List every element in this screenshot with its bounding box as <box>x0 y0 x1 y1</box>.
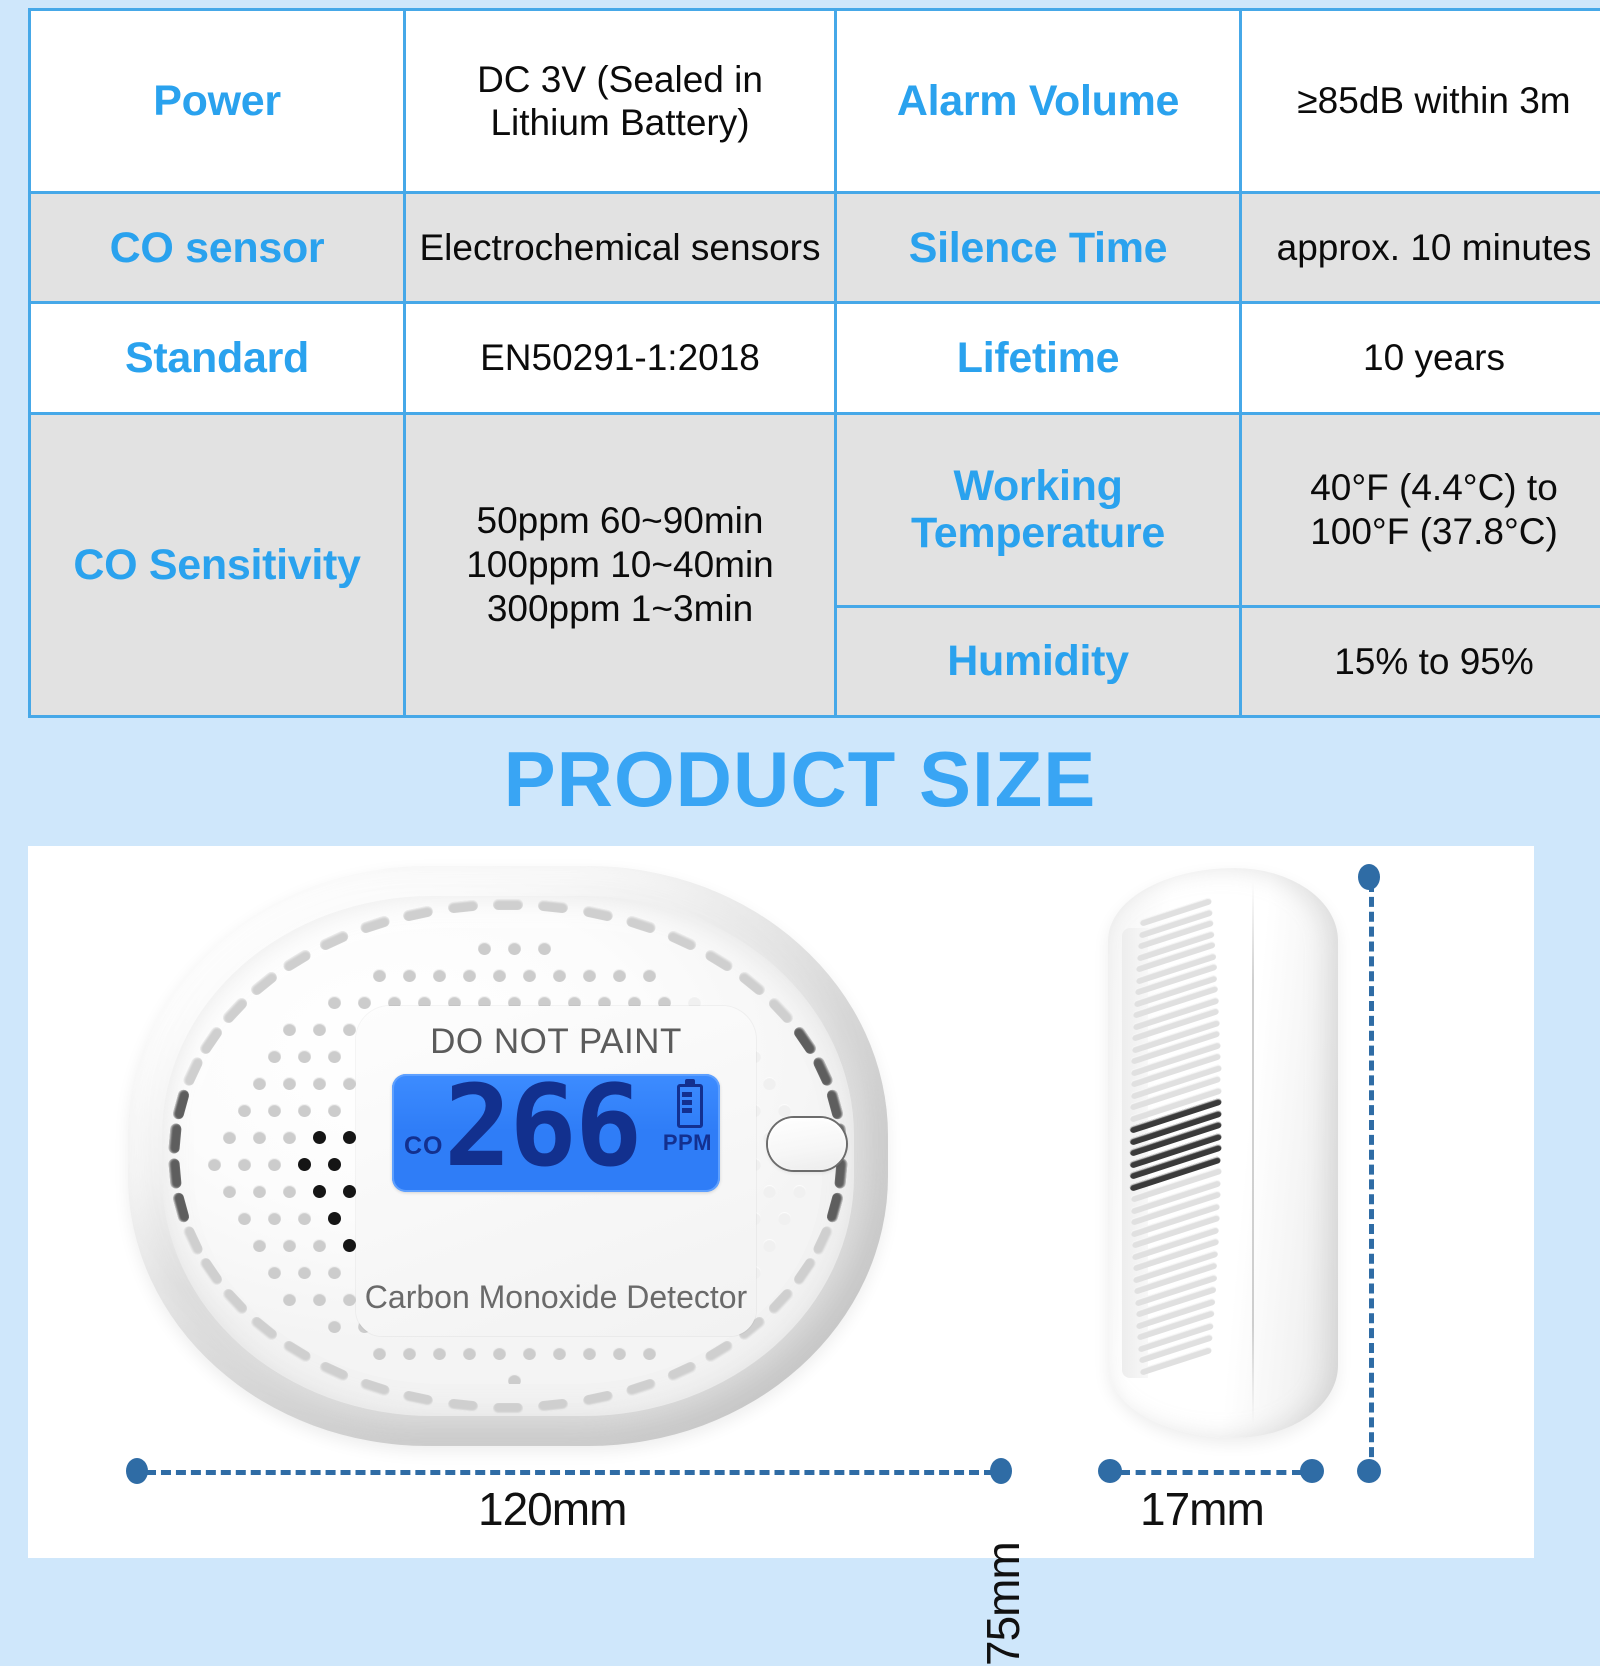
spec-value-working-temperature: 40°F (4.4°C) to 100°F (37.8°C) <box>1241 413 1600 606</box>
detector-front-view: DO NOT PAINT CO 266 PPM Carbon Monoxide … <box>128 866 888 1446</box>
grille-dot <box>793 1185 806 1198</box>
grille-dot <box>268 1212 281 1225</box>
vent-slit <box>172 1089 191 1121</box>
grille-dot <box>313 1131 326 1144</box>
spec-label-co-sensor: CO sensor <box>30 193 405 303</box>
detector-label-plate: DO NOT PAINT CO 266 PPM Carbon Monoxide … <box>356 1006 756 1336</box>
vent-slit <box>826 1089 845 1121</box>
grille-dot <box>493 1347 506 1360</box>
detector-seam-line <box>1252 882 1254 1424</box>
grille-dot <box>373 969 386 982</box>
test-button[interactable] <box>768 1118 846 1170</box>
spec-label-power: Power <box>30 10 405 193</box>
sensitivity-line-2: 100ppm 10~40min <box>416 543 824 587</box>
grille-dot <box>223 1185 236 1198</box>
grille-dot <box>583 1347 596 1360</box>
spec-label-standard: Standard <box>30 303 405 413</box>
grille-dot <box>343 1077 356 1090</box>
grille-dot <box>328 1320 341 1333</box>
battery-icon <box>677 1084 703 1128</box>
vent-slit <box>493 899 523 910</box>
grille-dot <box>268 1104 281 1117</box>
sensitivity-line-1: 50ppm 60~90min <box>416 499 824 543</box>
grille-dot <box>433 969 446 982</box>
dimension-endpoint-width-left <box>126 1458 148 1484</box>
grille-dot <box>643 1347 656 1360</box>
grille-dot <box>343 1131 356 1144</box>
sensitivity-line-3: 300ppm 1~3min <box>416 587 824 631</box>
product-size-panel: DO NOT PAINT CO 266 PPM Carbon Monoxide … <box>28 846 1534 1558</box>
spec-label-working-temperature: Working Temperature <box>836 413 1241 606</box>
grille-dot <box>283 1131 296 1144</box>
detector-side-view <box>1108 868 1338 1438</box>
vent-slit <box>172 1191 191 1223</box>
spec-value-humidity: 15% to 95% <box>1241 606 1600 716</box>
grille-dot <box>253 1239 266 1252</box>
working-temperature-line-1: 40°F (4.4°C) to <box>1252 466 1600 510</box>
grille-dot <box>298 1212 311 1225</box>
grille-dot <box>358 996 371 1009</box>
grille-dot <box>298 1104 311 1117</box>
grille-dot <box>553 1347 566 1360</box>
grille-dot <box>343 1293 356 1306</box>
grille-dot <box>493 969 506 982</box>
grille-dot <box>373 1347 386 1360</box>
grille-dot <box>583 969 596 982</box>
grille-dot <box>268 1266 281 1279</box>
grille-dot <box>613 969 626 982</box>
grille-dot <box>313 1185 326 1198</box>
grille-dot <box>313 1293 326 1306</box>
spec-label-humidity: Humidity <box>836 606 1241 716</box>
lcd-reading: 266 <box>444 1074 640 1186</box>
grille-dot <box>613 1347 626 1360</box>
grille-dot <box>763 1239 776 1252</box>
working-temperature-line-2: 100°F (37.8°C) <box>1252 510 1600 554</box>
grille-dot <box>763 1185 776 1198</box>
grille-dot <box>463 969 476 982</box>
grille-dot <box>268 1158 281 1171</box>
grille-dot <box>403 969 416 982</box>
grille-dot <box>403 1347 416 1360</box>
spec-label-lifetime: Lifetime <box>836 303 1241 413</box>
grille-dot <box>208 1158 221 1171</box>
grille-dot <box>778 1212 791 1225</box>
lcd-unit: PPM <box>663 1130 712 1156</box>
grille-dot <box>268 1050 281 1063</box>
vent-slit <box>826 1191 845 1223</box>
dimension-line-width <box>146 1470 994 1475</box>
grille-dot <box>328 1212 341 1225</box>
dimension-label-depth: 17mm <box>1140 1482 1264 1536</box>
grille-dot <box>328 1050 341 1063</box>
dimension-label-width: 120mm <box>478 1482 626 1536</box>
spec-value-power: DC 3V (Sealed in Lithium Battery) <box>405 10 836 193</box>
spec-value-silence-time: approx. 10 minutes <box>1241 193 1600 303</box>
spec-value-alarm-volume: ≥85dB within 3m <box>1241 10 1600 193</box>
dimension-line-depth <box>1120 1470 1302 1475</box>
product-size-heading: PRODUCT SIZE <box>0 740 1600 818</box>
specification-table: Power DC 3V (Sealed in Lithium Battery) … <box>28 8 1600 718</box>
dimension-endpoint-height-bottom <box>1357 1459 1381 1483</box>
grille-dot <box>238 1212 251 1225</box>
grille-dot <box>238 1158 251 1171</box>
vent-slit <box>402 905 434 922</box>
grille-dot <box>778 1104 791 1117</box>
dimension-endpoint-depth-left <box>1098 1459 1122 1483</box>
table-row: Standard EN50291-1:2018 Lifetime 10 year… <box>30 303 1600 413</box>
grille-dot <box>433 1347 446 1360</box>
spec-value-co-sensor: Electrochemical sensors <box>405 193 836 303</box>
grille-dot <box>508 942 521 955</box>
dimension-endpoint-depth-right <box>1300 1459 1324 1483</box>
grille-dot <box>283 1185 296 1198</box>
vent-slit <box>582 1390 614 1407</box>
vent-slit <box>402 1390 434 1407</box>
grille-dot <box>553 969 566 982</box>
spec-label-silence-time: Silence Time <box>836 193 1241 303</box>
grille-dot <box>343 1185 356 1198</box>
grille-dot <box>478 942 491 955</box>
lcd-gas-label: CO <box>404 1132 444 1161</box>
grille-dot <box>763 1077 776 1090</box>
spec-value-co-sensitivity: 50ppm 60~90min 100ppm 10~40min 300ppm 1~… <box>405 413 836 716</box>
vent-slit <box>447 899 478 913</box>
grille-dot <box>283 1077 296 1090</box>
do-not-paint-label: DO NOT PAINT <box>356 1022 756 1062</box>
grille-dot <box>313 1023 326 1036</box>
grille-dot <box>283 1239 296 1252</box>
grille-dot <box>223 1131 236 1144</box>
grille-dot <box>313 1077 326 1090</box>
table-row: CO sensor Electrochemical sensors Silenc… <box>30 193 1600 303</box>
grille-dot <box>238 1104 251 1117</box>
dimension-line-height <box>1369 882 1374 1472</box>
dimension-endpoint-width-right <box>990 1458 1012 1484</box>
grille-dot <box>523 1347 536 1360</box>
grille-dot <box>538 942 551 955</box>
vent-slit <box>538 899 569 913</box>
spec-value-standard: EN50291-1:2018 <box>405 303 836 413</box>
grille-dot <box>298 1158 311 1171</box>
lcd-display: CO 266 PPM <box>392 1074 720 1192</box>
table-row: Power DC 3V (Sealed in Lithium Battery) … <box>30 10 1600 193</box>
vent-slit <box>168 1158 182 1189</box>
product-name-label: Carbon Monoxide Detector <box>356 1279 756 1316</box>
spec-value-lifetime: 10 years <box>1241 303 1600 413</box>
spec-label-alarm-volume: Alarm Volume <box>836 10 1241 193</box>
grille-dot <box>343 1023 356 1036</box>
table-row: CO Sensitivity 50ppm 60~90min 100ppm 10~… <box>30 413 1600 606</box>
grille-dot <box>283 1293 296 1306</box>
vent-slit <box>493 1403 523 1414</box>
dimension-label-height: 75mm <box>976 1542 1396 1666</box>
grille-dot <box>253 1185 266 1198</box>
grille-dot <box>328 1266 341 1279</box>
grille-dot <box>328 1104 341 1117</box>
grille-dot <box>343 1239 356 1252</box>
grille-dot <box>508 1374 521 1384</box>
grille-dot <box>463 1347 476 1360</box>
grille-dot <box>328 996 341 1009</box>
detector-side-vents <box>1126 920 1236 1390</box>
vent-slit <box>447 1399 478 1413</box>
grille-dot <box>298 1266 311 1279</box>
grille-dot <box>328 1158 341 1171</box>
grille-dot <box>298 1050 311 1063</box>
vent-slit <box>582 905 614 922</box>
vent-slit <box>168 1123 182 1154</box>
grille-dot <box>283 1023 296 1036</box>
grille-dot <box>523 969 536 982</box>
grille-dot <box>253 1131 266 1144</box>
spec-label-co-sensitivity: CO Sensitivity <box>30 413 405 716</box>
grille-dot <box>253 1077 266 1090</box>
grille-dot <box>313 1239 326 1252</box>
vent-slit <box>538 1399 569 1413</box>
grille-dot <box>643 969 656 982</box>
